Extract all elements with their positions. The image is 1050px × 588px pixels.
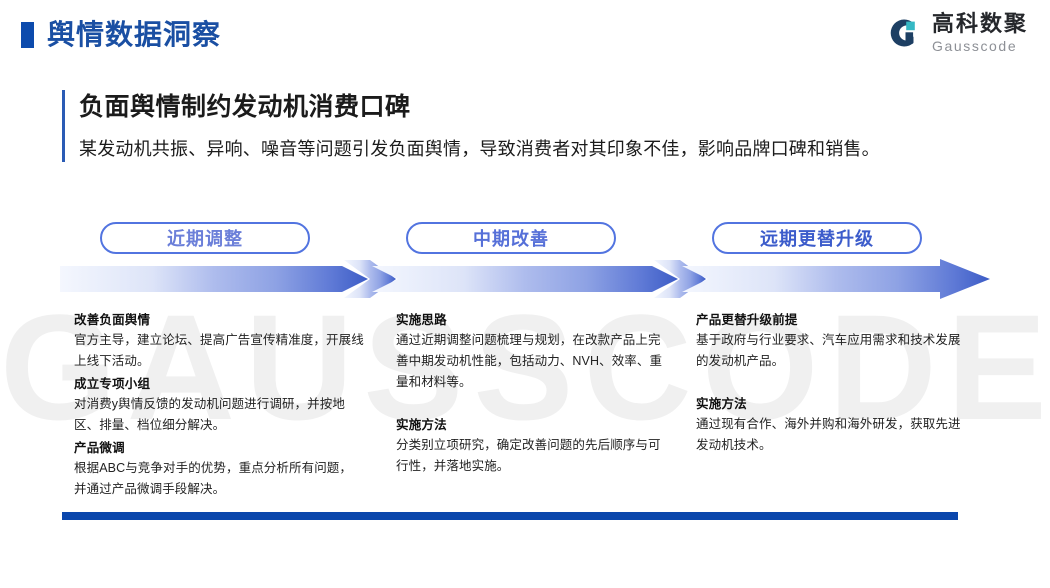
block-title: 实施方法 xyxy=(696,394,966,414)
content-block: 成立专项小组 对消费y舆情反馈的发动机问题进行调研，并按地区、排量、档位细分解决… xyxy=(74,374,364,436)
phase-pill-mid-term[interactable]: 中期改善 xyxy=(406,222,616,254)
block-body: 基于政府与行业要求、汽车应用需求和技术发展的发动机产品。 xyxy=(696,330,966,372)
block-body: 对消费y舆情反馈的发动机问题进行调研，并按地区、排量、档位细分解决。 xyxy=(74,394,364,436)
header-bullet-square xyxy=(21,22,34,48)
gausscode-logo-mark-icon xyxy=(883,13,923,53)
phase-pill-group: 近期调整 中期改善 远期更替升级 xyxy=(0,222,1050,258)
column-mid-term: 实施思路 通过近期调整问题梳理与规划，在改款产品上完善中期发动机性能，包括动力、… xyxy=(396,310,666,477)
phase-pill-long-term[interactable]: 远期更替升级 xyxy=(712,222,922,254)
lead-title: 负面舆情制约发动机消费口碑 xyxy=(79,90,982,124)
content-block: 改善负面舆情 官方主导，建立论坛、提高广告宣传精准度，开展线上线下活动。 xyxy=(74,310,364,372)
slide-root: GAUSSCODE 舆情数据洞察 高科数聚 Gausscode 负面舆情制约发动… xyxy=(0,0,1050,588)
block-body: 通过近期调整问题梳理与规划，在改款产品上完善中期发动机性能，包括动力、NVH、效… xyxy=(396,330,666,393)
content-block: 实施方法 通过现有合作、海外并购和海外研发，获取先进发动机技术。 xyxy=(696,394,966,456)
content-block: 产品更替升级前提 基于政府与行业要求、汽车应用需求和技术发展的发动机产品。 xyxy=(696,310,966,372)
column-long-term: 产品更替升级前提 基于政府与行业要求、汽车应用需求和技术发展的发动机产品。 实施… xyxy=(696,310,966,456)
lead-block: 负面舆情制约发动机消费口碑 某发动机共振、异响、噪音等问题引发负面舆情，导致消费… xyxy=(62,90,982,162)
lead-subtitle: 某发动机共振、异响、噪音等问题引发负面舆情，导致消费者对其印象不佳，影响品牌口碑… xyxy=(79,136,982,162)
block-body: 通过现有合作、海外并购和海外研发，获取先进发动机技术。 xyxy=(696,414,966,456)
footer-rule xyxy=(62,512,958,520)
block-body: 官方主导，建立论坛、提高广告宣传精准度，开展线上线下活动。 xyxy=(74,330,364,372)
column-near-term: 改善负面舆情 官方主导，建立论坛、提高广告宣传精准度，开展线上线下活动。 成立专… xyxy=(74,310,364,500)
block-title: 改善负面舆情 xyxy=(74,310,364,330)
brand-name-cn: 高科数聚 xyxy=(932,13,1028,35)
brand-name-en: Gausscode xyxy=(932,39,1028,53)
brand-logo: 高科数聚 Gausscode xyxy=(883,13,1028,53)
content-block: 实施思路 通过近期调整问题梳理与规划，在改款产品上完善中期发动机性能，包括动力、… xyxy=(396,310,666,393)
block-body: 分类别立项研究，确定改善问题的先后顺序与可行性，并落地实施。 xyxy=(396,435,666,477)
content-block: 产品微调 根据ABC与竞争对手的优势，重点分析所有问题，并通过产品微调手段解决。 xyxy=(74,438,364,500)
page-title: 舆情数据洞察 xyxy=(47,17,221,53)
phase-pill-near-term[interactable]: 近期调整 xyxy=(100,222,310,254)
block-title: 实施思路 xyxy=(396,310,666,330)
content-block: 实施方法 分类别立项研究，确定改善问题的先后顺序与可行性，并落地实施。 xyxy=(396,415,666,477)
timeline-arrow xyxy=(60,258,990,300)
slide-header: 舆情数据洞察 高科数聚 Gausscode xyxy=(0,0,1050,68)
brand-logo-text: 高科数聚 Gausscode xyxy=(932,13,1028,53)
phase-pill-long-term-label: 远期更替升级 xyxy=(760,225,874,251)
block-body: 根据ABC与竞争对手的优势，重点分析所有问题，并通过产品微调手段解决。 xyxy=(74,458,364,500)
block-title: 产品更替升级前提 xyxy=(696,310,966,330)
block-title: 成立专项小组 xyxy=(74,374,364,394)
phase-pill-mid-term-label: 中期改善 xyxy=(473,225,549,251)
block-title: 实施方法 xyxy=(396,415,666,435)
block-title: 产品微调 xyxy=(74,438,364,458)
phase-pill-near-term-label: 近期调整 xyxy=(167,225,243,251)
